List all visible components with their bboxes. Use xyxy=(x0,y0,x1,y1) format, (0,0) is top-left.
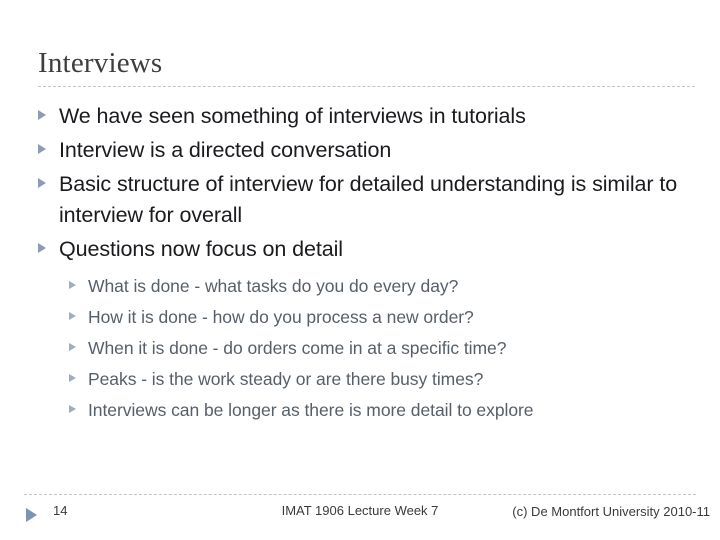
footer-copyright: (c) De Montfort University 2010-11 xyxy=(450,503,710,520)
list-item: How it is done - how do you process a ne… xyxy=(69,304,688,331)
triangle-right-small-icon xyxy=(69,335,88,351)
list-item: Interviews can be longer as there is mor… xyxy=(69,397,688,424)
triangle-right-small-icon xyxy=(69,273,88,289)
triangle-right-icon xyxy=(38,135,59,154)
bullet-text: Basic structure of interview for detaile… xyxy=(59,169,688,231)
sub-bullet-text: Interviews can be longer as there is mor… xyxy=(88,397,688,424)
list-item: What is done - what tasks do you do ever… xyxy=(69,273,688,300)
sub-bullet-list: What is done - what tasks do you do ever… xyxy=(69,273,688,424)
content-body: We have seen something of interviews in … xyxy=(38,101,688,428)
list-item: Basic structure of interview for detaile… xyxy=(38,169,688,231)
sub-bullet-text: When it is done - do orders come in at a… xyxy=(88,335,688,362)
title-divider xyxy=(38,86,695,87)
triangle-right-small-icon xyxy=(69,304,88,320)
triangle-right-icon xyxy=(38,234,59,253)
sub-bullet-text: How it is done - how do you process a ne… xyxy=(88,304,688,331)
triangle-right-small-icon xyxy=(69,397,88,413)
list-item: Interview is a directed conversation xyxy=(38,135,688,166)
sub-bullet-text: What is done - what tasks do you do ever… xyxy=(88,273,688,300)
triangle-right-small-icon xyxy=(69,366,88,382)
page-title: Interviews xyxy=(38,46,698,80)
bullet-text: Questions now focus on detail xyxy=(59,234,688,265)
triangle-right-icon xyxy=(38,169,59,188)
list-item: Peaks - is the work steady or are there … xyxy=(69,366,688,393)
slide-canvas: Interviews We have seen something of int… xyxy=(0,0,720,540)
list-item: Questions now focus on detail xyxy=(38,234,688,265)
bullet-text: We have seen something of interviews in … xyxy=(59,101,688,132)
title-block: Interviews xyxy=(38,46,698,80)
footer-divider xyxy=(24,494,696,495)
list-item: When it is done - do orders come in at a… xyxy=(69,335,688,362)
triangle-right-icon xyxy=(38,101,59,120)
sub-bullet-text: Peaks - is the work steady or are there … xyxy=(88,366,688,393)
bullet-text: Interview is a directed conversation xyxy=(59,135,688,166)
list-item: We have seen something of interviews in … xyxy=(38,101,688,132)
